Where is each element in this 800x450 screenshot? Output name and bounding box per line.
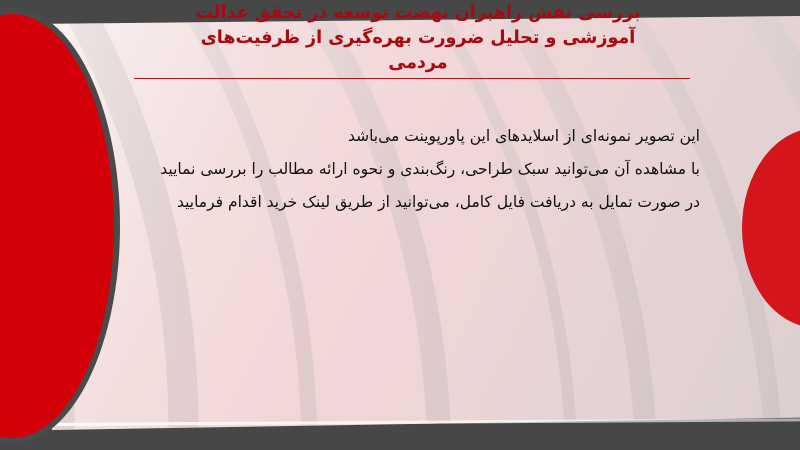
title-divider-rule <box>134 78 690 79</box>
slide-title-line-1: بررسی نقش راهبران نهضت توسعه در تحقق عدا… <box>140 1 696 26</box>
presentation-slide: بررسی نقش راهبران نهضت توسعه در تحقق عدا… <box>0 0 800 450</box>
slide-title-line-2: آموزشی و تحلیل ضرورت بهره‌گیری از ظرفیت‌… <box>140 26 696 51</box>
slide-body-line-1: این تصویر نمونه‌ای از اسلایدهای این پاور… <box>100 120 700 153</box>
slide-title-line-3: مردمی <box>140 51 696 76</box>
slide-title: بررسی نقش راهبران نهضت توسعه در تحقق عدا… <box>140 1 696 76</box>
slide-body-text: این تصویر نمونه‌ای از اسلایدهای این پاور… <box>100 120 700 219</box>
slide-body-line-3: در صورت تمایل به دریافت فایل کامل، می‌تو… <box>100 186 700 219</box>
slide-body-line-2: با مشاهده آن می‌توانید سبک طراحی، رنگ‌بن… <box>100 153 700 186</box>
